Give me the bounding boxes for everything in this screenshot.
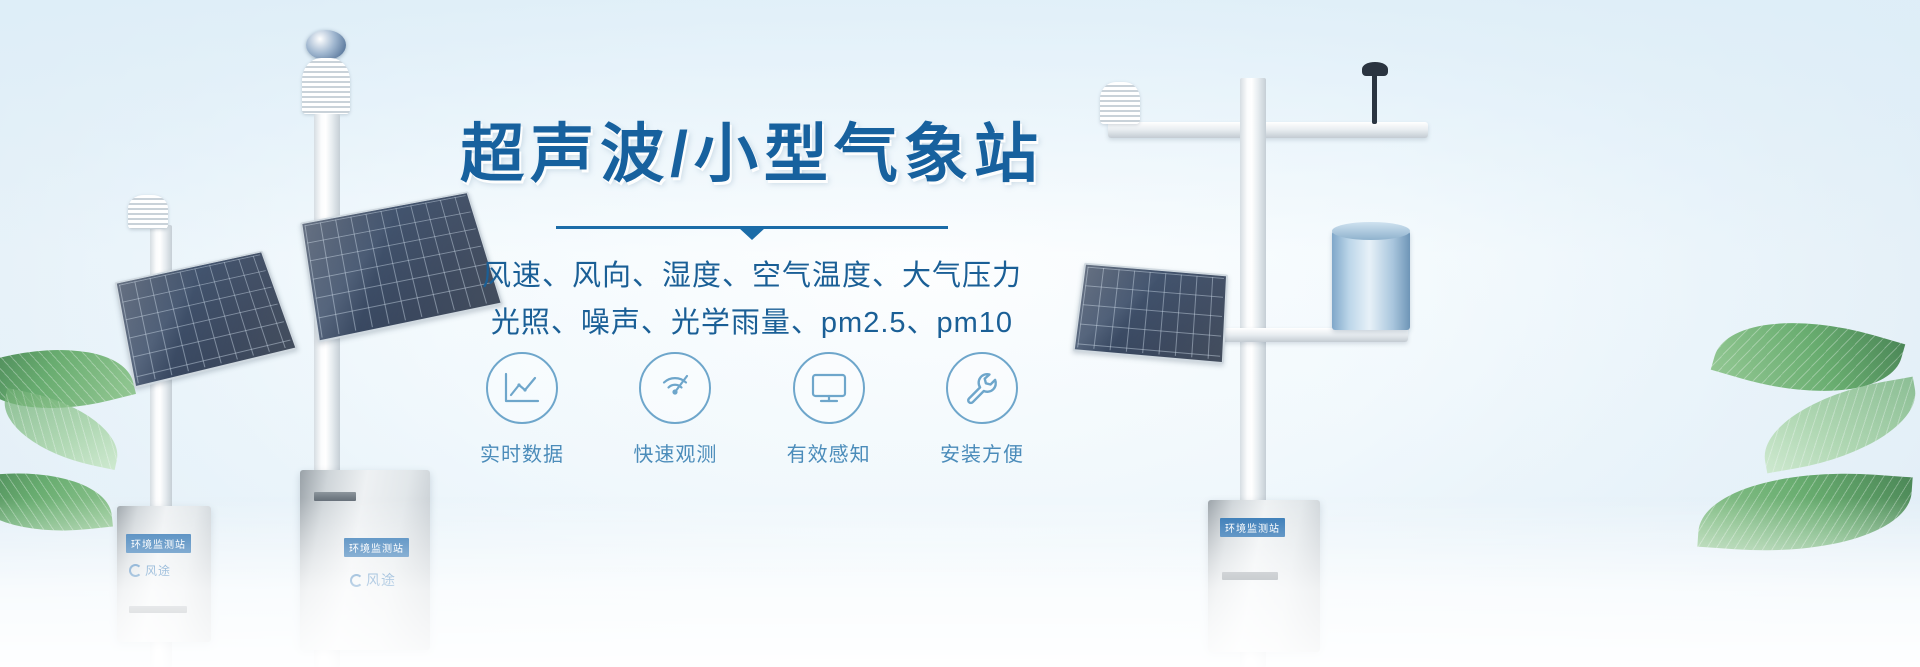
product-banner: 环境监测站 风途 环境监测站 风途: [0, 0, 1920, 667]
ultrasonic-dome-sensor-icon: [306, 30, 346, 60]
page-title: 超声波/小型气象站: [452, 118, 1052, 192]
brand-logo-icon: [350, 574, 363, 587]
chart-line-icon: [503, 371, 541, 405]
ultrasonic-sensor-head: [1100, 82, 1140, 124]
radar-signal-icon: [656, 370, 694, 406]
feature-circle: [639, 352, 711, 424]
feature-circle: [486, 352, 558, 424]
equipment-cabinet-right: 环境监测站: [1208, 500, 1320, 652]
wrench-icon: [964, 370, 1000, 406]
feature-label: 快速观测: [611, 438, 739, 467]
cabinet-vent: [129, 606, 187, 613]
leaf-decoration-right-3: [1697, 463, 1912, 561]
subtitle-list: 风速、风向、湿度、空气温度、大气压力 光照、噪声、光学雨量、pm2.5、pm10: [452, 253, 1052, 347]
rain-gauge-lid: [1332, 222, 1410, 240]
cabinet-label-left: 环境监测站: [126, 534, 191, 553]
feature-item-realtime-data[interactable]: 实时数据: [458, 352, 586, 467]
equipment-cabinet-center: 环境监测站 风途: [300, 470, 430, 650]
cabinet-vent: [1222, 572, 1278, 580]
optical-rain-gauge: [1332, 230, 1410, 330]
brand-name-center: 风途: [366, 570, 396, 590]
radiation-shield: [302, 58, 350, 114]
solar-panel: [1073, 263, 1229, 365]
wind-vane-cup: [1362, 62, 1388, 76]
lower-cross-arm: [1218, 328, 1408, 342]
cabinet-label-center: 环境监测站: [344, 538, 409, 557]
brand-logo-icon: [129, 564, 142, 577]
weather-station-left: 环境监测站 风途: [95, 195, 295, 667]
equipment-cabinet-left: 环境监测站 风途: [117, 506, 211, 642]
temp-humidity-shield-icon: [128, 195, 168, 229]
monitor-screen-icon: [810, 371, 848, 405]
cabinet-vent: [314, 492, 356, 501]
feature-item-fast-observation[interactable]: 快速观测: [611, 352, 739, 467]
feature-item-easy-install[interactable]: 安装方便: [918, 352, 1046, 467]
feature-item-effective-sensing[interactable]: 有效感知: [765, 352, 893, 467]
feature-label: 有效感知: [765, 438, 893, 467]
feature-label: 安装方便: [918, 438, 1046, 467]
title-divider: [556, 226, 948, 229]
solar-panel: [115, 251, 298, 389]
weather-station-right: 环境监测站: [1080, 60, 1410, 667]
feature-circle: [946, 352, 1018, 424]
subtitle-line-1: 风速、风向、湿度、空气温度、大气压力: [452, 253, 1052, 300]
cross-arm: [1108, 122, 1428, 138]
feature-list: 实时数据 快速观测 有效感知: [452, 352, 1052, 467]
feature-label: 实时数据: [458, 438, 586, 467]
feature-circle: [793, 352, 865, 424]
brand-name-left: 风途: [145, 562, 171, 579]
cabinet-brand-left: 风途: [129, 562, 171, 579]
leaf-decoration-right-2: [1755, 377, 1920, 474]
cabinet-label-right: 环境监测站: [1220, 518, 1285, 537]
subtitle-line-2: 光照、噪声、光学雨量、pm2.5、pm10: [452, 300, 1052, 347]
headline-block: 超声波/小型气象站 风速、风向、湿度、空气温度、大气压力 光照、噪声、光学雨量、…: [452, 118, 1052, 347]
cabinet-brand-center: 风途: [350, 570, 396, 590]
